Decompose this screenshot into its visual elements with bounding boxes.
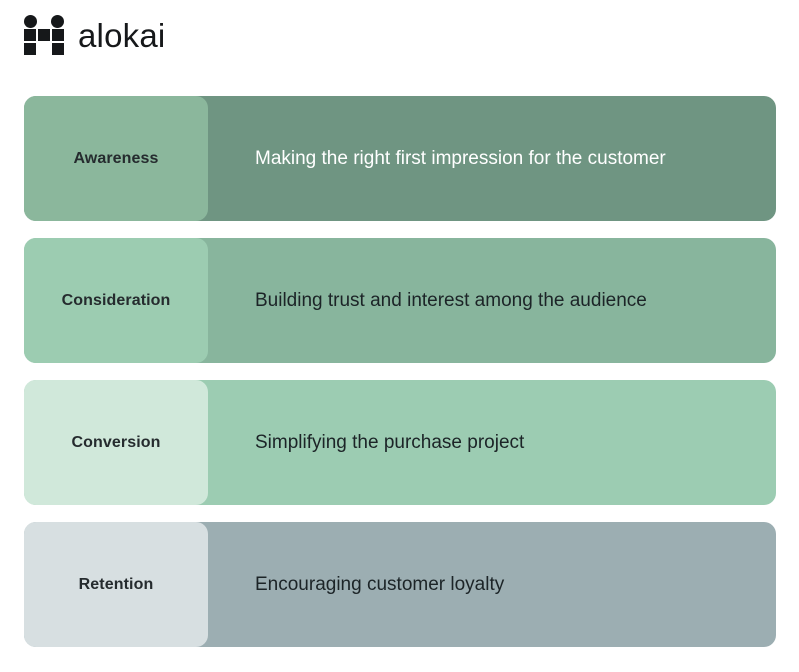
brand-wordmark: alokai <box>78 19 165 52</box>
stage-label-card[interactable]: Retention <box>24 522 208 647</box>
stage-label: Retention <box>79 576 154 594</box>
stage-row[interactable]: Making the right first impression for th… <box>24 96 776 221</box>
page-root: alokai Making the right first impression… <box>0 0 799 672</box>
brand-header: alokai <box>24 12 165 58</box>
stage-row[interactable]: Encouraging customer loyalty Retention <box>24 522 776 647</box>
stage-label-card[interactable]: Consideration <box>24 238 208 363</box>
stage-label-card[interactable]: Conversion <box>24 380 208 505</box>
stage-label-card[interactable]: Awareness <box>24 96 208 221</box>
stage-label: Conversion <box>71 434 160 452</box>
stage-description: Building trust and interest among the au… <box>255 288 752 314</box>
stage-row[interactable]: Building trust and interest among the au… <box>24 238 776 363</box>
stage-description: Simplifying the purchase project <box>255 430 752 456</box>
stage-description: Making the right first impression for th… <box>255 146 752 172</box>
stage-description: Encouraging customer loyalty <box>255 572 752 598</box>
alokai-mark-icon <box>24 15 64 55</box>
stage-label: Awareness <box>73 150 158 168</box>
stage-row[interactable]: Simplifying the purchase project Convers… <box>24 380 776 505</box>
stage-list: Making the right first impression for th… <box>24 96 776 647</box>
stage-label: Consideration <box>62 292 171 310</box>
